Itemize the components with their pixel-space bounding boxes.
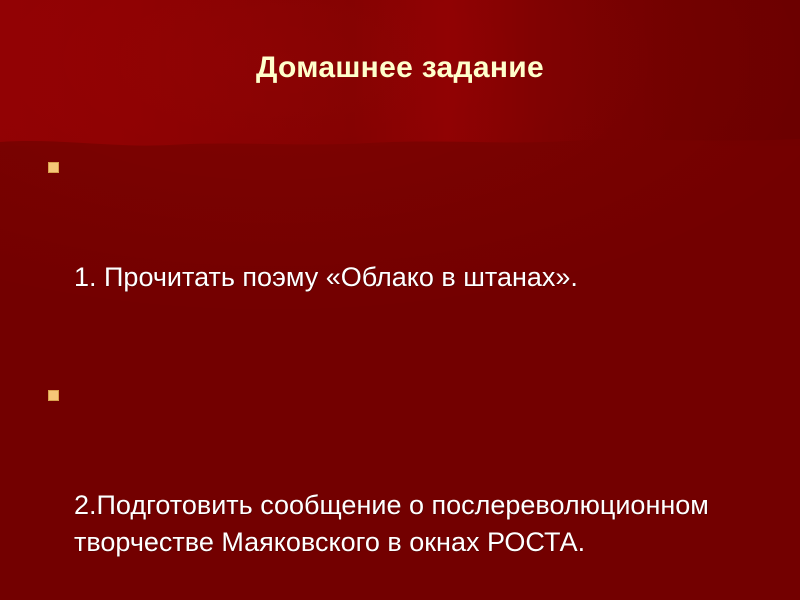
square-bullet-icon xyxy=(48,162,59,173)
square-bullet-icon xyxy=(48,390,59,401)
slide-canvas: Домашнее задание 1. Прочитать поэму «Обл… xyxy=(0,0,800,600)
list-item: 2.Подготовить сообщение о послереволюцио… xyxy=(42,376,768,600)
homework-bullet-list: 1. Прочитать поэму «Облако в штанах». 2.… xyxy=(42,148,768,600)
list-item-label: 2.Подготовить сообщение о послереволюцио… xyxy=(74,487,768,561)
page-title: Домашнее задание xyxy=(0,50,800,86)
list-item-label: 1. Прочитать поэму «Облако в штанах». xyxy=(74,259,768,296)
list-item: 1. Прочитать поэму «Облако в штанах». xyxy=(42,148,768,370)
